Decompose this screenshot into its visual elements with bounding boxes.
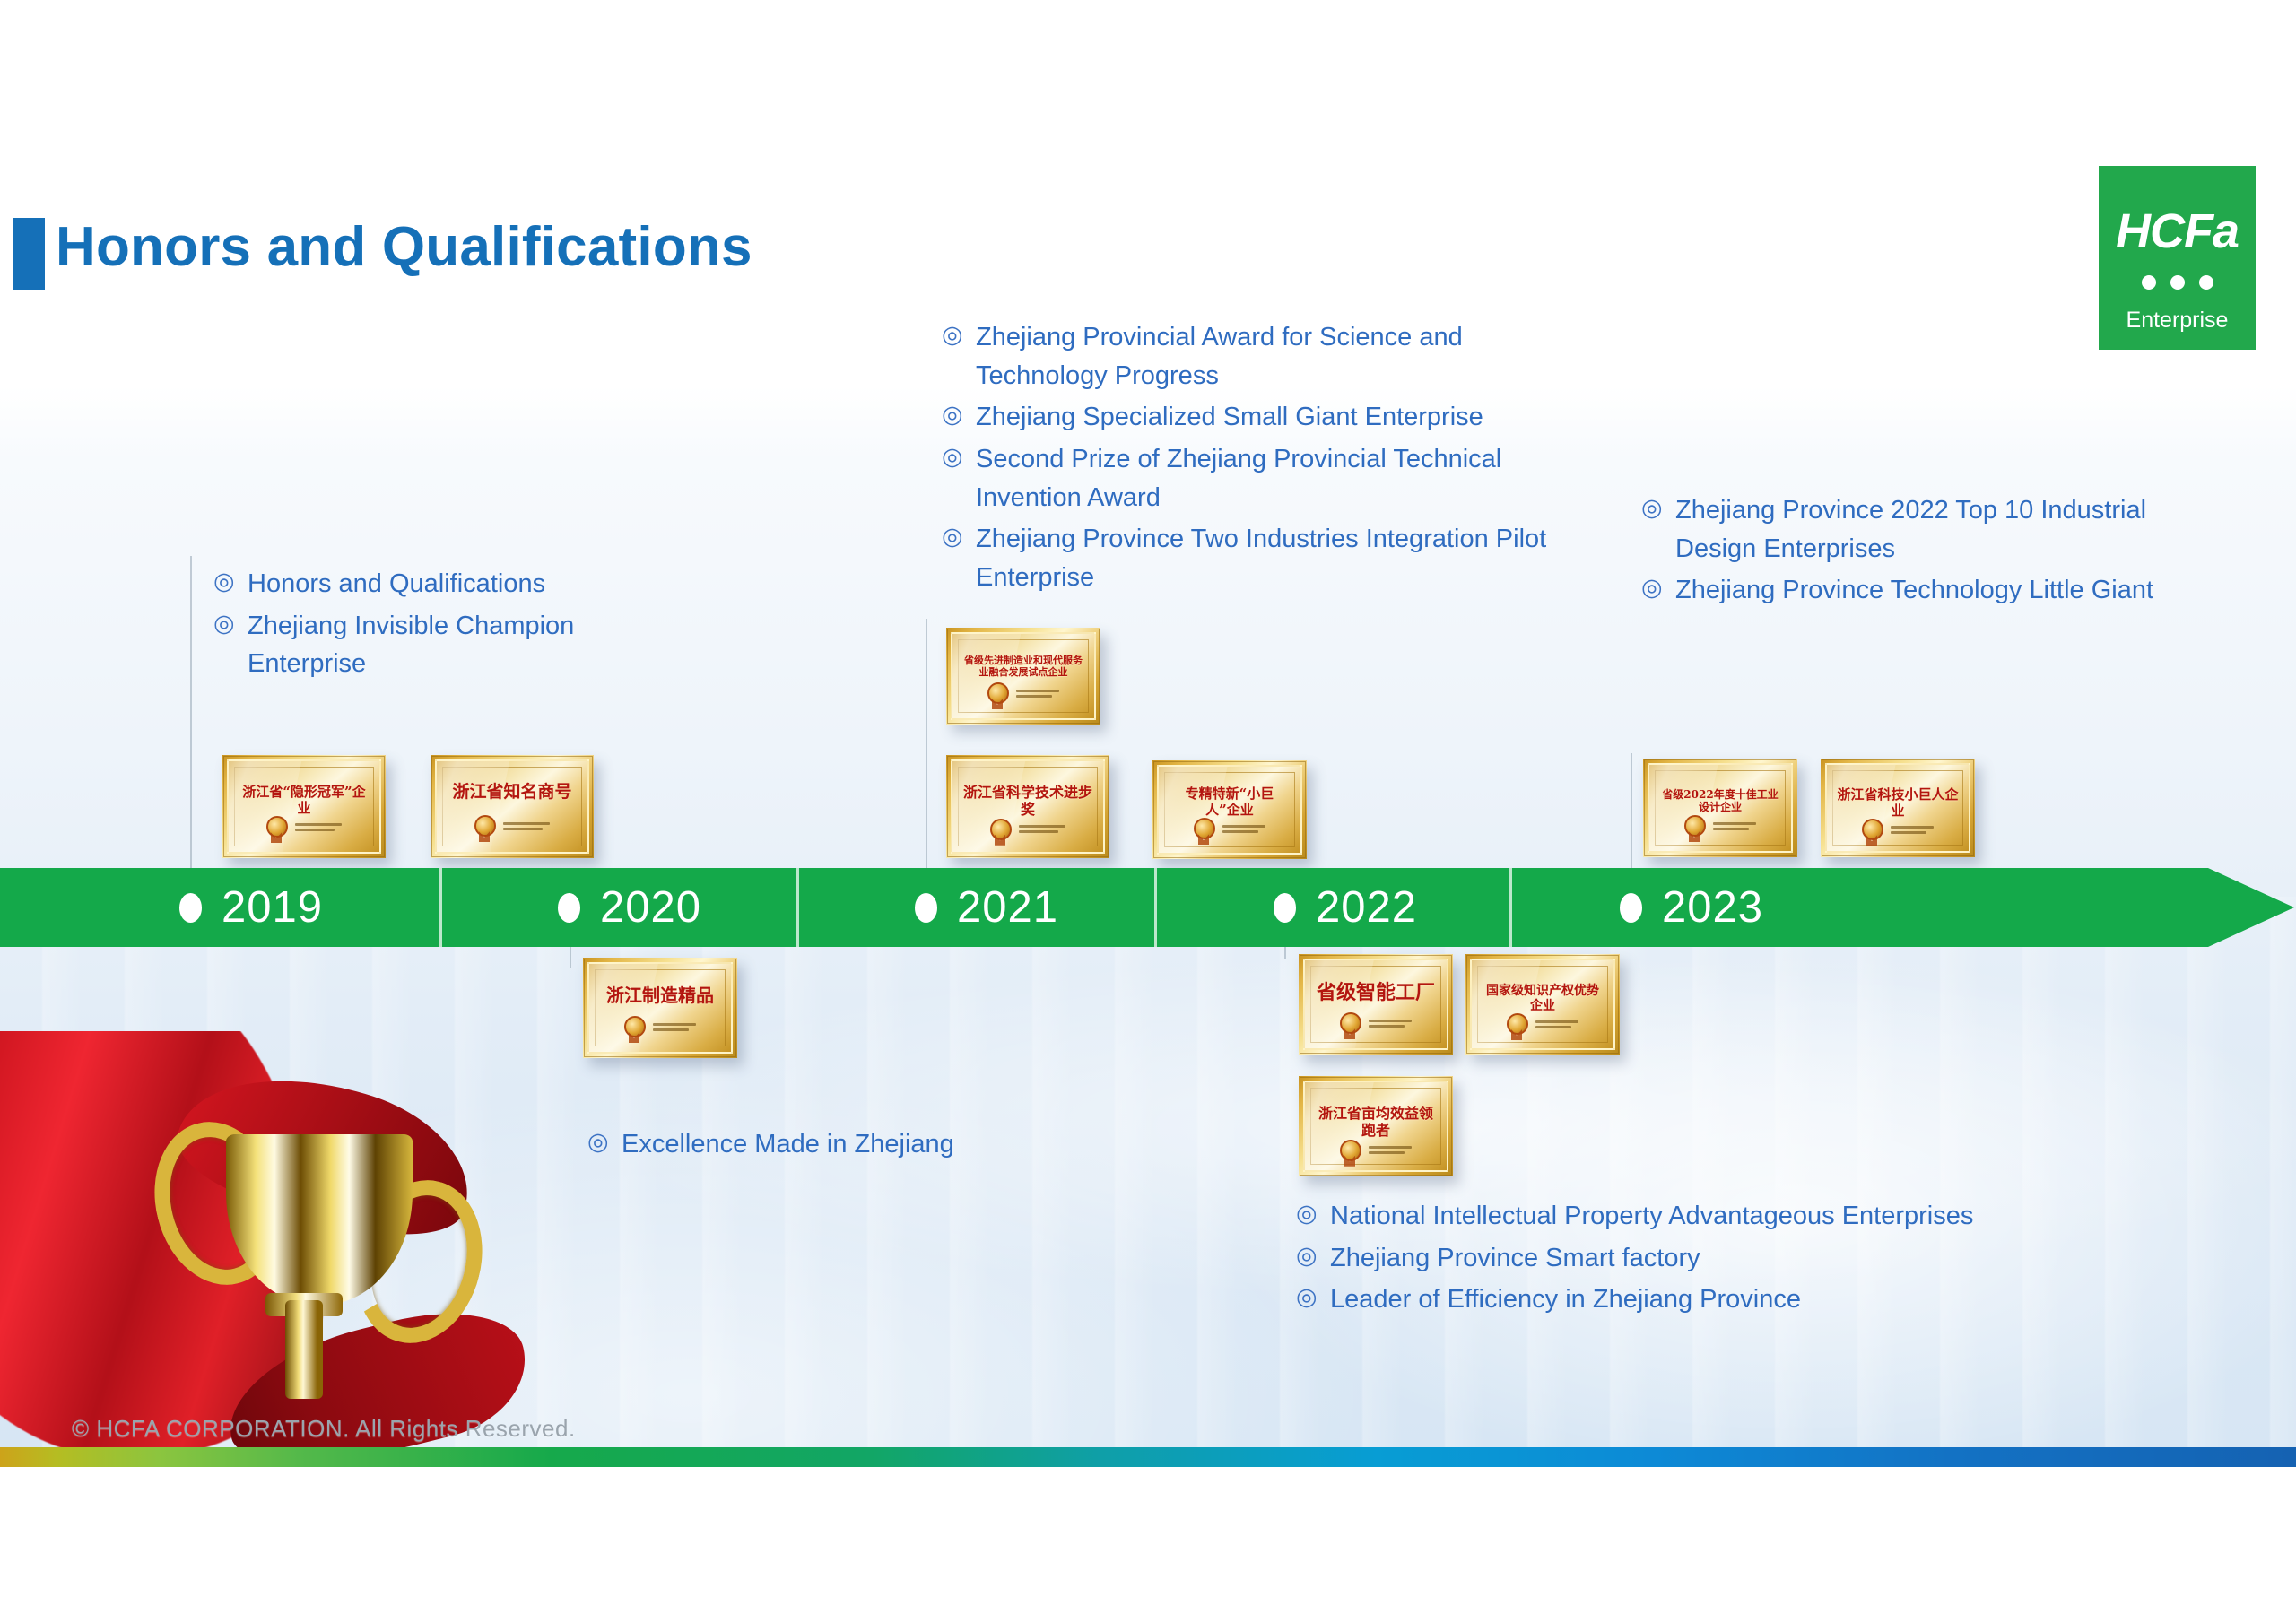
seal-icon [1194, 818, 1215, 839]
seal-text-lines [1019, 825, 1065, 833]
plaque-seal [1837, 819, 1959, 840]
bottom-white-area [0, 1467, 2296, 1623]
seal-text-lines [653, 1023, 696, 1031]
plaque-seal [1315, 1140, 1437, 1161]
award-plaque: 省级2022年度十佳工业设计企业 [1643, 759, 1797, 857]
logo-dots-icon [2099, 275, 2256, 290]
seal-icon [266, 816, 288, 838]
bullet-label: Second Prize of Zhejiang Provincial Tech… [976, 440, 1570, 516]
plaque-seal [1169, 818, 1291, 839]
timeline-dot-icon [179, 893, 202, 923]
timeline-dot-icon [915, 893, 937, 923]
seal-text-lines [1891, 826, 1934, 834]
bullet-icon: ◎ [942, 445, 965, 469]
timeline-bar: 2019 2020 2021 2022 2023 [0, 868, 2296, 947]
timeline-divider [1154, 868, 1157, 947]
slide-root: Honors and Qualifications HCFa Enterpris… [0, 0, 2296, 1623]
plaque-caption: 浙江制造精品 [599, 985, 721, 1007]
timeline-year-label: 2020 [600, 882, 701, 933]
timeline-body [0, 868, 2208, 947]
timeline-divider [439, 868, 442, 947]
bottom-spectrum-bar [0, 1447, 2296, 1467]
award-plaque: 浙江省知名商号 [430, 755, 594, 858]
timeline-year-2021[interactable]: 2021 [915, 868, 1058, 947]
bullet-icon: ◎ [942, 403, 965, 427]
seal-icon [474, 815, 496, 837]
bullet-label: Zhejiang Province Technology Little Gian… [1675, 571, 2153, 610]
bullet-label: Zhejiang Invisible Champion Enterprise [248, 607, 599, 683]
plaque-seal [599, 1016, 721, 1037]
seal-text-lines [1535, 1020, 1578, 1028]
list-item: ◎ Excellence Made in Zhejiang [587, 1125, 1018, 1164]
timeline-stem [1631, 753, 1632, 870]
bullet-icon: ◎ [213, 612, 237, 636]
seal-text-lines [1016, 690, 1059, 698]
seal-icon [1340, 1012, 1361, 1034]
award-plaque: 浙江省亩均效益领跑者 [1299, 1076, 1453, 1176]
award-plaque: 浙江制造精品 [583, 958, 737, 1058]
bullet-icon: ◎ [213, 569, 237, 594]
bullet-label: Zhejiang Specialized Small Giant Enterpr… [976, 398, 1483, 437]
seal-icon [1507, 1013, 1528, 1035]
seal-icon [1862, 819, 1883, 840]
list-item: ◎ National Intellectual Property Advanta… [1296, 1197, 1996, 1236]
seal-icon [1684, 815, 1706, 837]
bullet-icon: ◎ [587, 1130, 611, 1154]
list-item: ◎ Second Prize of Zhejiang Provincial Te… [942, 440, 1570, 516]
bullet-label: National Intellectual Property Advantage… [1330, 1197, 1973, 1236]
list-item: ◎ Honors and Qualifications [213, 565, 599, 603]
plaque-seal [962, 682, 1084, 704]
timeline-dot-icon [558, 893, 580, 923]
seal-icon [987, 682, 1009, 704]
plaque-caption: 浙江省知名商号 [448, 782, 577, 802]
timeline-year-2022[interactable]: 2022 [1274, 868, 1417, 947]
plaque-seal [1482, 1013, 1604, 1035]
bullet-label: Zhejiang Provincial Award for Science an… [976, 318, 1570, 395]
timeline-year-label: 2021 [957, 882, 1058, 933]
plaque-caption: 浙江省亩均效益领跑者 [1315, 1106, 1437, 1140]
plaque-caption: 省级2022年度十佳工业设计企业 [1659, 788, 1781, 813]
seal-text-lines [1713, 822, 1756, 830]
plaque-caption: 省级先进制造业和现代服务业融合发展试点企业 [962, 655, 1084, 679]
plaque-caption: 浙江省科技小巨人企业 [1837, 787, 1959, 819]
award-plaque: 浙江省科技小巨人企业 [1821, 759, 1975, 857]
list-item: ◎ Zhejiang Province 2022 Top 10 Industri… [1641, 491, 2215, 568]
seal-icon [624, 1016, 646, 1037]
list-item: ◎ Zhejiang Province Technology Little Gi… [1641, 571, 2215, 610]
seal-text-lines [503, 822, 550, 830]
list-item: ◎ Zhejiang Provincial Award for Science … [942, 318, 1570, 395]
bullet-icon: ◎ [1641, 496, 1665, 520]
award-plaque: 省级智能工厂 [1299, 954, 1453, 1055]
bullet-icon: ◎ [942, 525, 965, 549]
list-item: ◎ Zhejiang Specialized Small Giant Enter… [942, 398, 1570, 437]
timeline-year-label: 2019 [222, 882, 323, 933]
copyright-text: © HCFA CORPORATION. All Rights Reserved. [72, 1415, 576, 1443]
timeline-year-2023[interactable]: 2023 [1620, 868, 1763, 947]
plaque-seal [448, 815, 577, 837]
timeline-year-2019[interactable]: 2019 [179, 868, 323, 947]
plaque-caption: 省级智能工厂 [1315, 982, 1437, 1005]
bullet-icon: ◎ [942, 323, 965, 347]
milestone-2021-text: ◎ Zhejiang Provincial Award for Science … [942, 318, 1570, 600]
timeline-divider [1509, 868, 1512, 947]
seal-icon [1340, 1140, 1361, 1161]
trophy-stem [285, 1300, 323, 1399]
seal-text-lines [1369, 1020, 1412, 1028]
hcfa-logo: HCFa Enterprise [2099, 166, 2256, 350]
award-plaque: 国家级知识产权优势企业 [1465, 954, 1620, 1055]
milestone-2020-text: ◎ Excellence Made in Zhejiang [587, 1125, 1018, 1167]
plaque-caption: 浙江省“隐形冠军”企业 [239, 785, 369, 816]
list-item: ◎ Zhejiang Province Two Industries Integ… [942, 520, 1570, 596]
timeline-year-label: 2023 [1662, 882, 1763, 933]
seal-text-lines [295, 823, 342, 831]
title-accent-bar [13, 218, 45, 290]
timeline-stem [926, 619, 927, 870]
plaque-caption: 专精特新“小巨人”企业 [1169, 786, 1291, 818]
bullet-icon: ◎ [1296, 1244, 1319, 1268]
seal-icon [990, 819, 1012, 840]
timeline-dot-icon [1274, 893, 1296, 923]
award-plaque: 省级先进制造业和现代服务业融合发展试点企业 [946, 628, 1100, 725]
list-item: ◎ Leader of Efficiency in Zhejiang Provi… [1296, 1280, 1996, 1319]
bullet-label: Zhejiang Province 2022 Top 10 Industrial… [1675, 491, 2215, 568]
plaque-seal [1315, 1012, 1437, 1034]
hcfa-wordmark: HCFa [2099, 207, 2256, 256]
award-plaque: 浙江省“隐形冠军”企业 [222, 755, 386, 858]
logo-subtitle: Enterprise [2099, 308, 2256, 334]
plaque-seal [239, 816, 369, 838]
milestone-2019-text: ◎ Honors and Qualifications ◎ Zhejiang I… [213, 565, 599, 687]
milestone-2023-text: ◎ Zhejiang Province 2022 Top 10 Industri… [1641, 491, 2215, 613]
plaque-caption: 国家级知识产权优势企业 [1482, 984, 1604, 1013]
award-plaque: 浙江省科学技术进步奖 [946, 755, 1109, 858]
bullet-icon: ◎ [1296, 1285, 1319, 1309]
plaque-seal [963, 819, 1092, 840]
list-item: ◎ Zhejiang Province Smart factory [1296, 1239, 1996, 1278]
bullet-label: Zhejiang Province Two Industries Integra… [976, 520, 1570, 596]
timeline-divider [796, 868, 799, 947]
bullet-icon: ◎ [1296, 1202, 1319, 1226]
seal-text-lines [1222, 825, 1265, 833]
milestone-2022-text: ◎ National Intellectual Property Advanta… [1296, 1197, 1996, 1323]
bullet-label: Excellence Made in Zhejiang [622, 1125, 954, 1164]
bullet-label: Honors and Qualifications [248, 565, 545, 603]
timeline-year-2020[interactable]: 2020 [558, 868, 701, 947]
timeline-dot-icon [1620, 893, 1642, 923]
plaque-seal [1659, 815, 1781, 837]
bullet-label: Leader of Efficiency in Zhejiang Provinc… [1330, 1280, 1801, 1319]
trophy-artwork [0, 1031, 574, 1448]
plaque-caption: 浙江省科学技术进步奖 [963, 785, 1092, 819]
award-plaque: 专精特新“小巨人”企业 [1152, 760, 1307, 859]
bullet-label: Zhejiang Province Smart factory [1330, 1239, 1700, 1278]
list-item: ◎ Zhejiang Invisible Champion Enterprise [213, 607, 599, 683]
timeline-stem [190, 556, 192, 870]
page-title: Honors and Qualifications [56, 215, 752, 279]
seal-text-lines [1369, 1146, 1412, 1154]
timeline-arrowhead [2208, 868, 2294, 947]
timeline-year-label: 2022 [1316, 882, 1417, 933]
bullet-icon: ◎ [1641, 576, 1665, 600]
